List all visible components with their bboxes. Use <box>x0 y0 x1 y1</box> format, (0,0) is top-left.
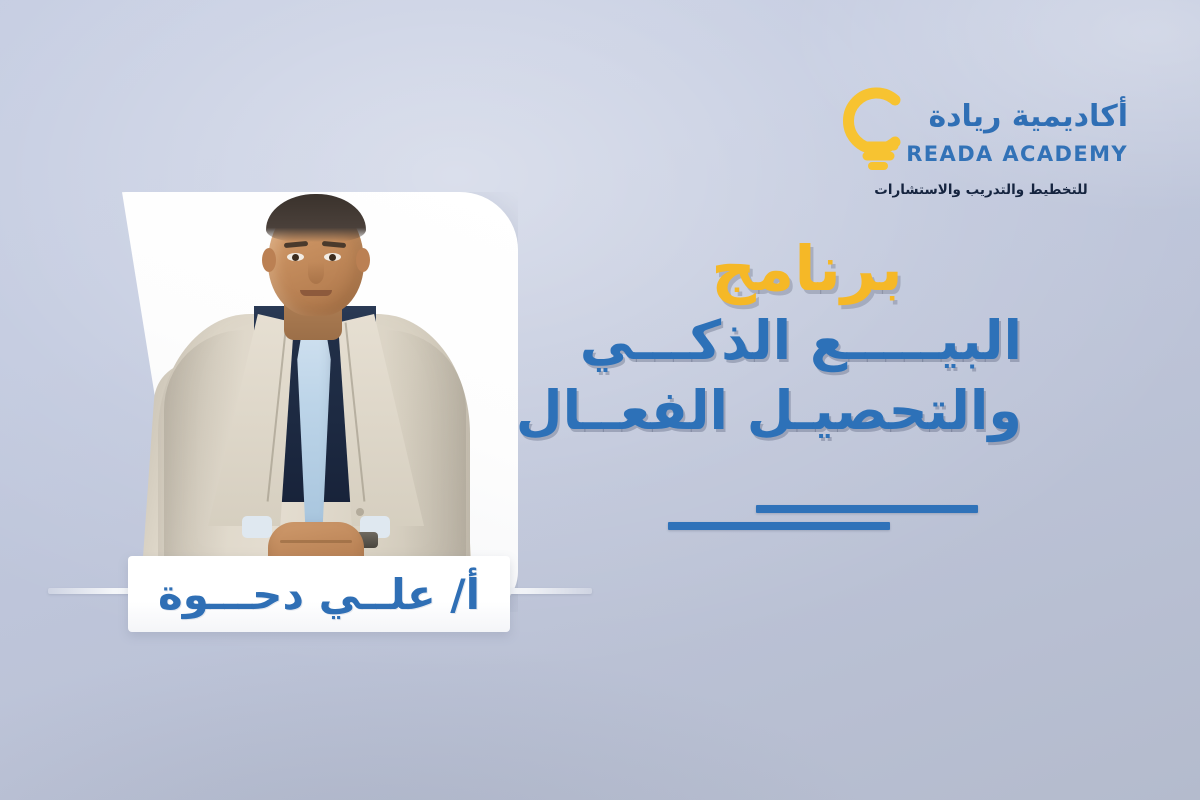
headline-block: برنامج البيـــــع الذكـــي والتحصيـل الف… <box>602 238 1022 438</box>
shirt-cuff-left <box>242 516 272 538</box>
logo-arabic-name: أكاديمية ريادة <box>928 102 1128 132</box>
mouth <box>300 290 332 296</box>
banner-canvas: أكاديمية ريادة READA ACADEMY للتخطيط وال… <box>0 0 1200 800</box>
logo-english-name: READA ACADEMY <box>906 142 1128 166</box>
eye-right <box>324 253 341 261</box>
logo-mark-row: أكاديمية ريادة READA ACADEMY <box>838 86 1128 178</box>
headline-line-3: والتحصيـل الفعــال <box>602 384 1022 438</box>
presenter-photo-panel <box>58 186 538 616</box>
ear-right <box>356 248 370 272</box>
jacket-button <box>356 508 364 516</box>
brand-logo[interactable]: أكاديمية ريادة READA ACADEMY للتخطيط وال… <box>838 86 1128 198</box>
headline-line-1: برنامج <box>602 238 1022 300</box>
decorative-rules <box>668 505 978 530</box>
hair <box>266 194 366 242</box>
ear-left <box>262 248 276 272</box>
presenter-portrait <box>150 186 480 616</box>
lightbulb-icon <box>838 84 912 176</box>
presenter-name: أ/ علــي دحـــوة <box>158 570 480 619</box>
eye-left <box>287 253 304 261</box>
decorative-rule-lower <box>668 522 890 530</box>
presenter-name-card: أ/ علــي دحـــوة <box>128 556 510 632</box>
logo-subtitle: للتخطيط والتدريب والاستشارات <box>838 182 1128 198</box>
headline-line-2: البيـــــع الذكـــي <box>602 314 1022 368</box>
nose <box>308 262 324 284</box>
decorative-rule-upper <box>756 505 978 513</box>
